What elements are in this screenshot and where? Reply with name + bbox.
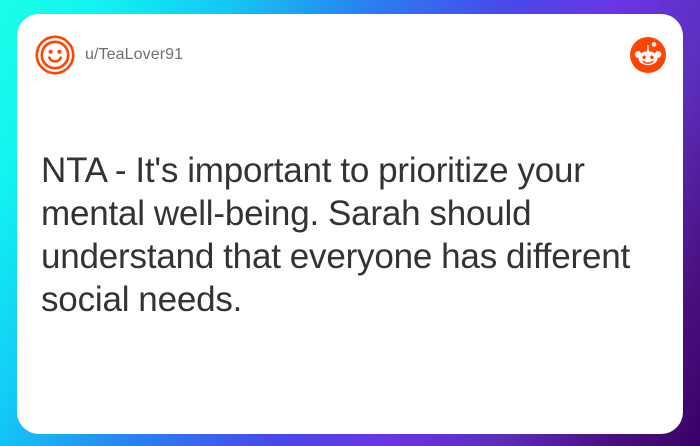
reddit-snoo-icon bbox=[630, 37, 666, 73]
reddit-comment-card: u/TeaLover91 bbox=[17, 14, 683, 434]
avatar[interactable] bbox=[35, 35, 75, 75]
username-label[interactable]: u/TeaLover91 bbox=[85, 46, 183, 64]
screenshot-canvas: u/TeaLover91 bbox=[0, 0, 700, 446]
comment-text: NTA - It's important to prioritize your … bbox=[41, 149, 641, 321]
reddit-logo[interactable] bbox=[630, 37, 666, 73]
smiley-face-avatar-icon bbox=[35, 35, 75, 75]
comment-header: u/TeaLover91 bbox=[17, 14, 683, 102]
